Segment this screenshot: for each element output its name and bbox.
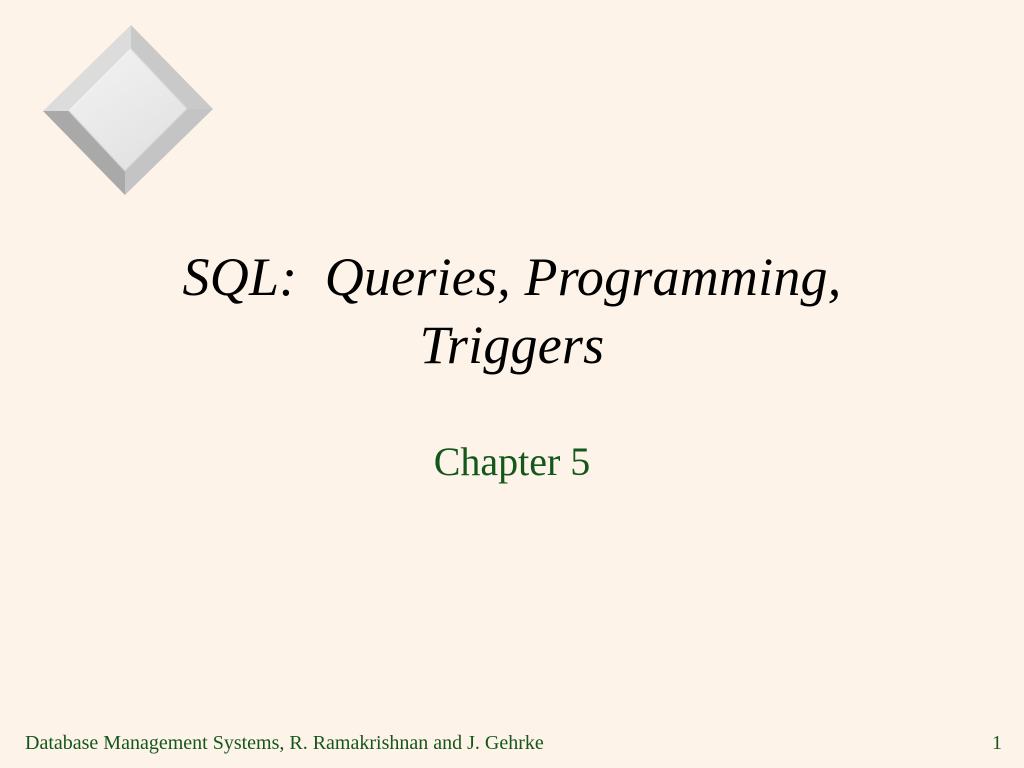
footer-page-number: 1: [992, 729, 1002, 757]
presentation-slide: SQL: Queries, Programming, Triggers Chap…: [0, 0, 1024, 768]
footer-credit-text: Database Management Systems, R. Ramakris…: [25, 729, 544, 757]
slide-footer: Database Management Systems, R. Ramakris…: [0, 729, 1024, 761]
slide-title: SQL: Queries, Programming, Triggers: [112, 243, 912, 379]
title-line-1: SQL: Queries, Programming,: [112, 243, 912, 311]
slide-subtitle: Chapter 5: [112, 438, 912, 486]
beveled-diamond-icon: [43, 25, 213, 195]
title-line-2: Triggers: [112, 311, 912, 379]
diamond-decoration: [43, 25, 213, 195]
subtitle-text: Chapter 5: [434, 439, 591, 484]
